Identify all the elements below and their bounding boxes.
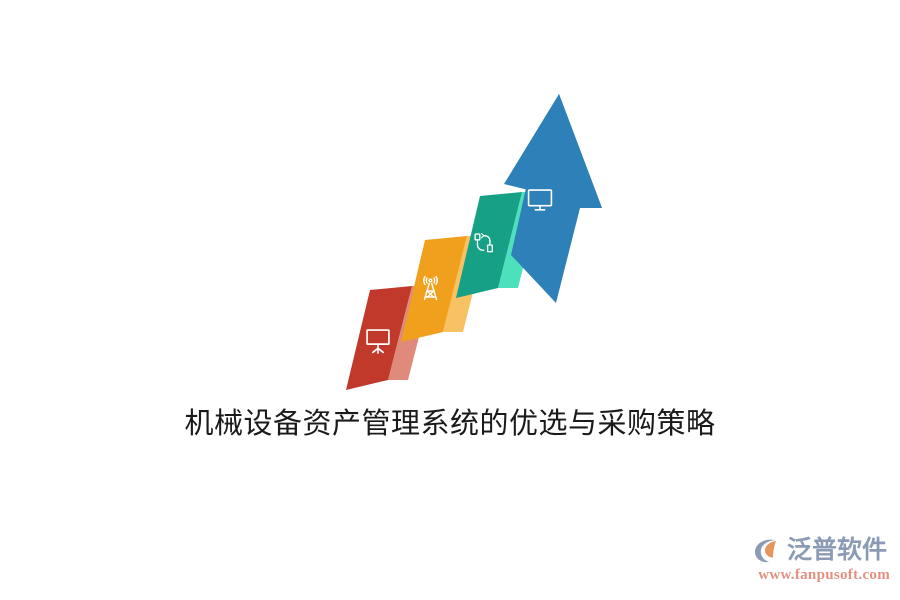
hero-graphic [330,80,610,410]
page-title: 机械设备资产管理系统的优选与采购策略 [0,404,900,444]
watermark-brand-row: 泛普软件 [752,532,892,568]
page-canvas: 机械设备资产管理系统的优选与采购策略 泛普软件 www.fanpusoft.co… [0,0,900,600]
watermark-brand-text: 泛普软件 [787,535,887,565]
watermark-logo: 泛普软件 www.fanpusoft.com [752,532,892,590]
growth-arrow-blue-head [504,94,602,208]
fanpu-swoosh-logo-icon [752,534,784,566]
watermark-url-text: www.fanpusoft.com [752,566,892,584]
